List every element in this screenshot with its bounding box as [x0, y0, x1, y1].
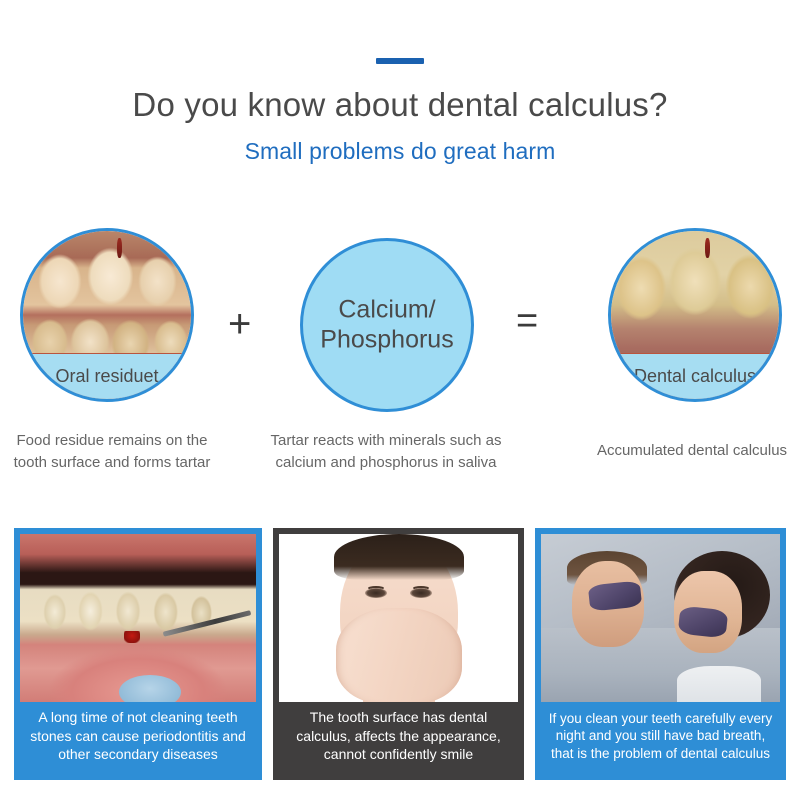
circle-dental-calculus: Dental calculus	[608, 228, 782, 402]
circle-label-oral-residue: Oral residuet	[55, 366, 158, 387]
equation-caption-3: Accumulated dental calculus	[584, 440, 800, 462]
dental-mirror-icon	[119, 675, 181, 702]
circle-oral-residue: Oral residuet	[20, 228, 194, 402]
circle-label-band-3: Dental calculus	[611, 353, 779, 399]
panel-caption-periodontitis: A long time of not cleaning teeth stones…	[20, 702, 256, 774]
equals-operator-icon: =	[516, 302, 538, 340]
circle-label-band-1: Oral residuet	[23, 353, 191, 399]
woman-top	[677, 666, 761, 702]
circle-calcium-phosphorus: Calcium/ Phosphorus	[300, 238, 474, 412]
woman-covering-mouth-photo	[279, 534, 518, 702]
right-eye	[410, 588, 432, 598]
left-eye	[365, 588, 387, 598]
panel-appearance: The tooth surface has dental calculus, a…	[273, 528, 524, 780]
equation-caption-2: Tartar reacts with minerals such as calc…	[268, 430, 504, 474]
plus-operator-icon: +	[228, 304, 251, 344]
divider-rule-icon	[376, 58, 424, 64]
equation-caption-1: Food residue remains on the tooth surfac…	[6, 430, 218, 474]
page-title: Do you know about dental calculus?	[0, 86, 800, 124]
gum-bleeding-detail	[124, 631, 140, 643]
page-header: Do you know about dental calculus? Small…	[0, 0, 800, 165]
gum-bleed-detail	[705, 238, 710, 258]
page-subtitle: Small problems do great harm	[0, 138, 800, 165]
circle-label-dental-calculus: Dental calculus	[634, 366, 756, 387]
couple-sleeping-photo	[541, 534, 780, 702]
covering-hands	[336, 608, 462, 702]
panel-bad-breath: If you clean your teeth carefully every …	[535, 528, 786, 780]
circle-label-line-2: Phosphorus	[303, 325, 471, 355]
panel-caption-bad-breath: If you clean your teeth carefully every …	[541, 702, 780, 774]
circle-label-line-1: Calcium/	[303, 296, 471, 326]
circle-label-calcium-phosphorus: Calcium/ Phosphorus	[303, 296, 471, 355]
panel-periodontitis: A long time of not cleaning teeth stones…	[14, 528, 262, 780]
periodontitis-photo	[20, 534, 256, 702]
hair-shape	[334, 534, 464, 580]
equation-captions: Food residue remains on the tooth surfac…	[0, 430, 800, 510]
consequence-panels: A long time of not cleaning teeth stones…	[0, 528, 800, 782]
equation-row: Oral residuet + Calcium/ Phosphorus = De…	[0, 226, 800, 411]
panel-caption-appearance: The tooth surface has dental calculus, a…	[279, 702, 518, 774]
gum-detail	[117, 238, 122, 258]
